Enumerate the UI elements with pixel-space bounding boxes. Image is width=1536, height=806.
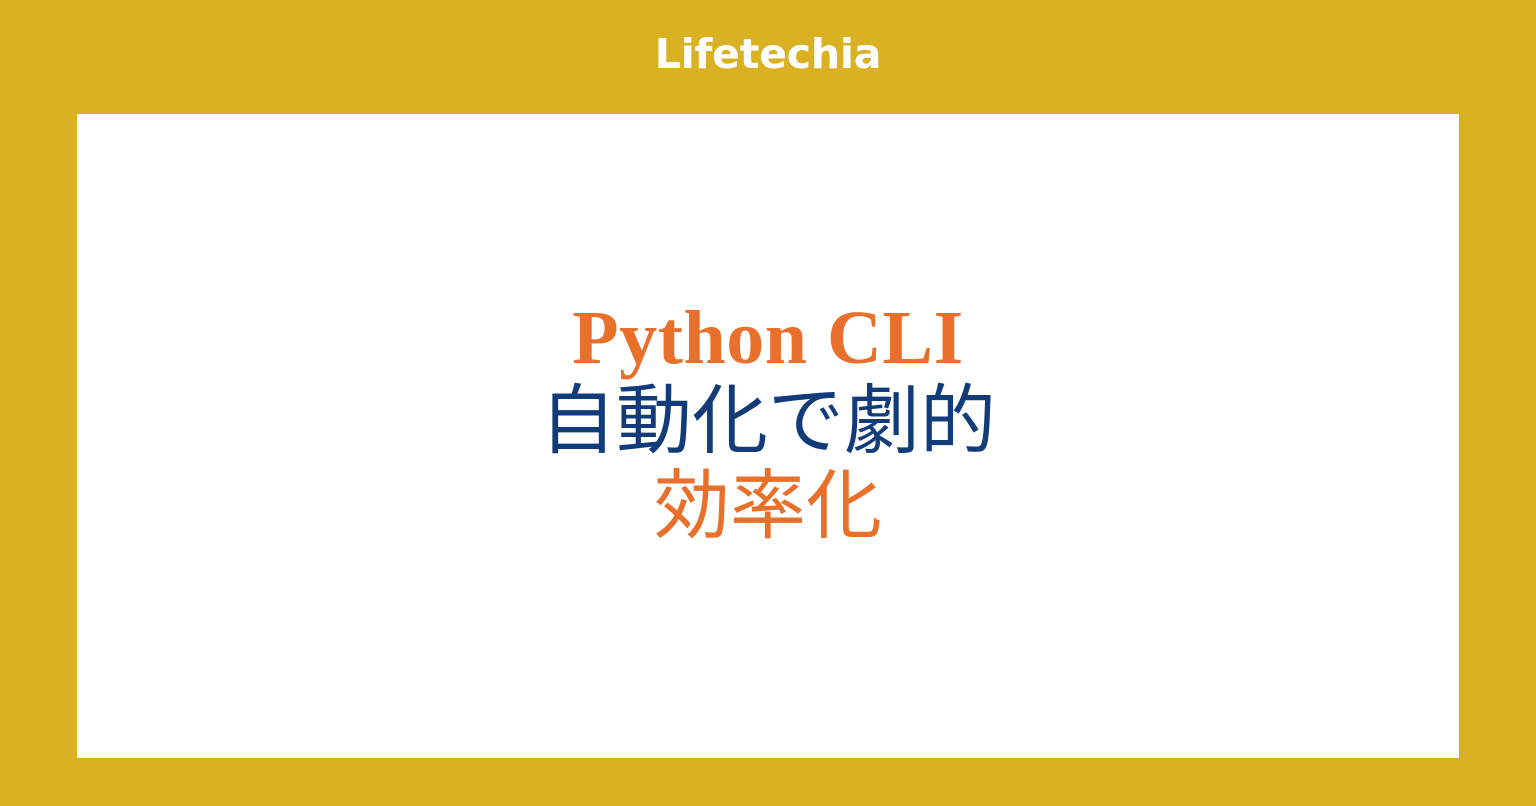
headline-line-3: 効率化 <box>77 463 1459 548</box>
brand-bar: Lifetechia <box>0 0 1536 114</box>
content-card: Python CLI 自動化で劇的 効率化 <box>77 114 1459 758</box>
headline-line-2: 自動化で劇的 <box>77 378 1459 463</box>
eyecatch-canvas: Lifetechia Python CLI 自動化で劇的 効率化 <box>0 0 1536 806</box>
headline-block: Python CLI 自動化で劇的 効率化 <box>77 298 1459 575</box>
headline-line-1: Python CLI <box>77 298 1459 379</box>
brand-title: Lifetechia <box>655 34 881 75</box>
